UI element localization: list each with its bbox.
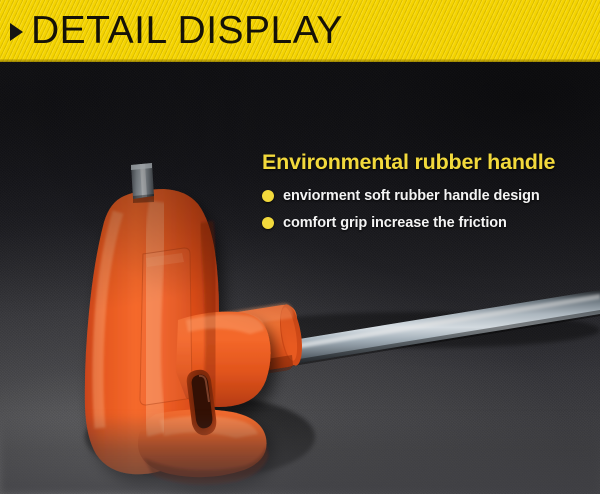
copy-heading: Environmental rubber handle — [262, 150, 596, 175]
header-banner: DETAIL DISPLAY — [0, 0, 600, 62]
marketing-copy: Environmental rubber handle enviorment s… — [262, 150, 596, 231]
product-detail-banner: DETAIL DISPLAY — [0, 0, 600, 494]
feature-bullet-2: comfort grip increase the friction — [262, 215, 596, 231]
rubber-handle — [85, 189, 271, 484]
bullet-dot-icon — [262, 190, 274, 202]
product-photo: Environmental rubber handle enviorment s… — [0, 62, 600, 494]
feature-bullet-1: enviorment soft rubber handle design — [262, 188, 596, 204]
feature-bullet-1-label: enviorment soft rubber handle design — [283, 188, 540, 204]
right-triangle-icon — [10, 23, 23, 41]
hex-key-tool-image — [0, 62, 600, 494]
bullet-dot-icon — [262, 217, 274, 229]
page-title: DETAIL DISPLAY — [31, 9, 343, 53]
hex-tip — [131, 163, 154, 203]
feature-bullet-2-label: comfort grip increase the friction — [283, 215, 507, 231]
